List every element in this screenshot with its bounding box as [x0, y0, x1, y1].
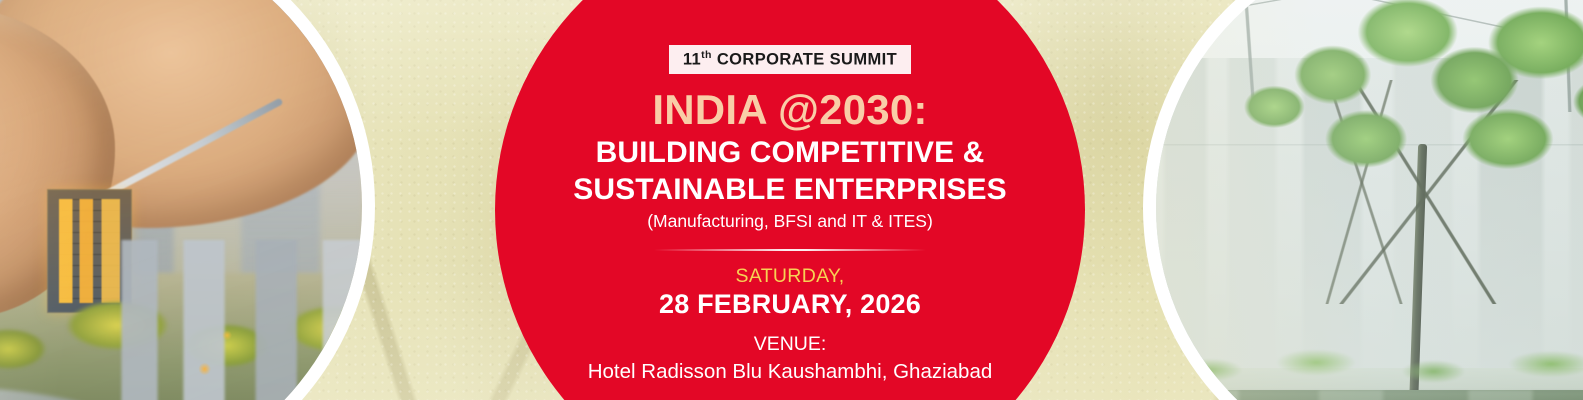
event-banner: 11th CORPORATE SUMMIT INDIA @2030: BUILD…: [0, 0, 1583, 400]
event-title-line2: SUSTAINABLE ENTERPRISES: [573, 173, 1006, 207]
banner-content: 11th CORPORATE SUMMIT INDIA @2030: BUILD…: [495, 0, 1085, 400]
badge-edition-number: 11: [683, 51, 701, 69]
event-date: 28 FEBRUARY, 2026: [659, 290, 921, 320]
summit-edition-badge: 11th CORPORATE SUMMIT: [669, 45, 911, 74]
venue-name: Hotel Radisson Blu Kaushambhi, Ghaziabad: [588, 360, 993, 384]
left-photo-inner: [0, 0, 362, 400]
hands-sketching-city-model-photo: [0, 0, 375, 400]
right-photo-inner: [1156, 0, 1583, 400]
badge-label: CORPORATE SUMMIT: [712, 51, 897, 69]
badge-edition-ordinal: th: [701, 49, 712, 61]
venue-label: VENUE:: [754, 334, 827, 355]
event-title-line1: BUILDING COMPETITIVE &: [596, 136, 985, 170]
green-tree-city-skyline-photo: [1143, 0, 1583, 400]
event-day: SATURDAY,: [736, 266, 845, 287]
eco-city-scene: [1156, 0, 1583, 400]
right-photo-haze: [1156, 0, 1583, 400]
section-divider: [654, 249, 926, 251]
city-model-scene: [0, 0, 362, 400]
event-sectors-note: (Manufacturing, BFSI and IT & ITES): [647, 211, 933, 232]
left-photo-fade: [0, 0, 362, 400]
event-title-main: INDIA @2030:: [652, 88, 927, 132]
